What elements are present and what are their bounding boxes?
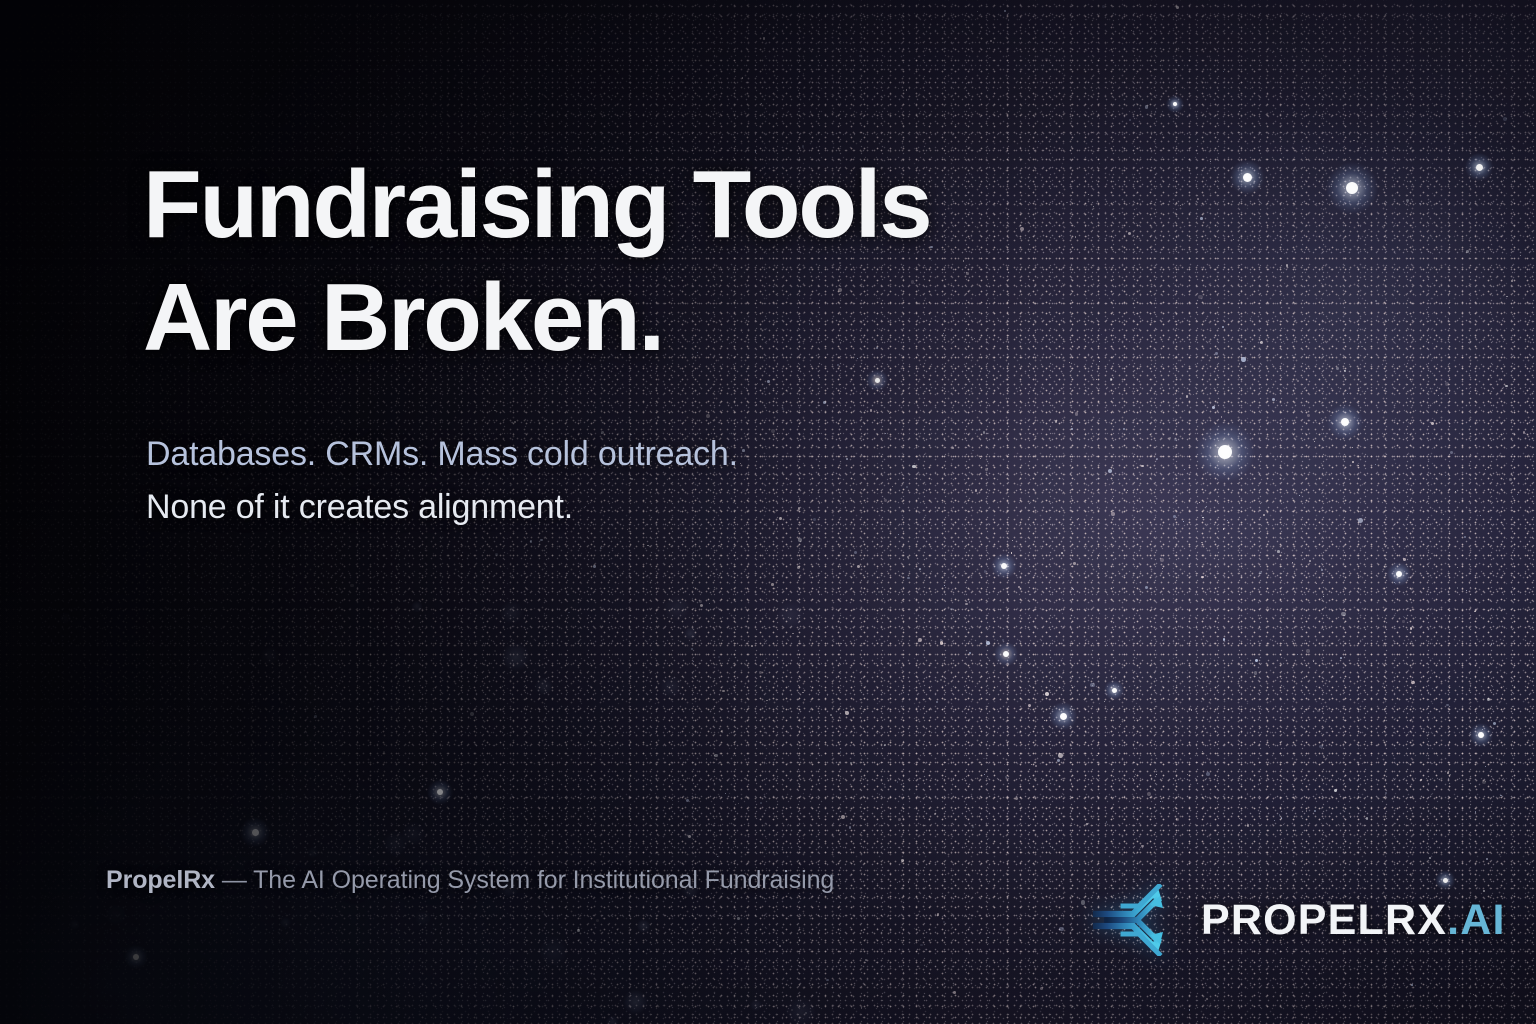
brand-wordmark-tld: .AI <box>1447 896 1506 944</box>
footer-tagline-text: The AI Operating System for Institutiona… <box>253 866 834 894</box>
subtitle-line-2: None of it creates alignment. <box>146 481 1026 534</box>
subtitle: Databases. CRMs. Mass cold outreach. Non… <box>146 428 1026 534</box>
brand-logo-lockup[interactable]: PROPELRX.AI <box>1093 884 1506 956</box>
page-title: Fundraising Tools Are Broken. <box>143 148 1043 374</box>
brand-wordmark-main: PROPELRX <box>1201 896 1447 944</box>
footer-dash: — <box>215 866 253 894</box>
slide-content: Fundraising Tools Are Broken. Databases.… <box>0 0 1536 1024</box>
footer-tagline: PropelRx — The AI Operating System for I… <box>106 864 834 896</box>
footer-brand-name: PropelRx <box>106 866 215 894</box>
brand-wordmark: PROPELRX.AI <box>1201 899 1506 942</box>
propelrx-chevron-mark-icon <box>1093 884 1183 956</box>
subtitle-line-1: Databases. CRMs. Mass cold outreach. <box>146 428 1026 481</box>
slide-canvas: Fundraising Tools Are Broken. Databases.… <box>0 0 1536 1024</box>
